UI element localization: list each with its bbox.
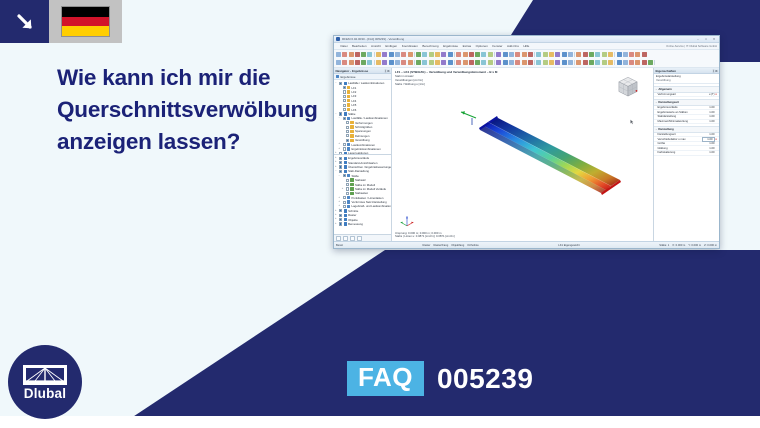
property-key: Verschiebefaktor u max — [656, 138, 702, 141]
toolbar-button[interactable] — [435, 60, 440, 65]
toolbar-button[interactable] — [536, 52, 541, 57]
properties-group-header[interactable]: −Allgemein — [654, 86, 719, 93]
toolbar-separator — [414, 52, 415, 57]
toolbar-button[interactable] — [562, 52, 567, 57]
toolbar-button[interactable] — [389, 60, 394, 65]
view-cube-icon[interactable] — [615, 74, 641, 100]
toolbar-button[interactable] — [389, 52, 394, 57]
tree-node-icon — [350, 187, 353, 190]
status-toggle-objektfang[interactable]: Objektfang — [451, 244, 464, 247]
toolbar-button[interactable] — [536, 60, 541, 65]
tree-node-label: Stabseiten — [355, 191, 368, 195]
tree-node-label: Stäbe — [348, 112, 355, 116]
toolbar-button[interactable] — [509, 60, 514, 65]
tree-checkbox[interactable] — [346, 187, 349, 190]
tree-node-icon — [350, 183, 353, 186]
tree-checkbox[interactable] — [346, 126, 349, 129]
property-key: Maximal-/Minimalwertung — [656, 120, 702, 123]
toolbar-button[interactable] — [408, 60, 413, 65]
group-label: Darstellung — [658, 127, 673, 131]
tree-node-label: Dehnungen — [355, 134, 369, 138]
tree-node-label: Übersichten / Ergebnisbewertungen — [348, 165, 391, 169]
properties-pin-icon[interactable]: ⌶ ✕ — [713, 69, 718, 73]
title-line-2: Querschnittsverwölbung — [57, 94, 327, 126]
toolbar-button[interactable] — [361, 52, 366, 57]
property-value[interactable]: 1.00 — [702, 137, 715, 142]
tree-twisty-icon[interactable]: − — [335, 81, 338, 85]
toolbar-separator — [454, 52, 455, 57]
toolbar-button[interactable] — [336, 52, 341, 57]
toolbar-button[interactable] — [401, 52, 406, 57]
toolbar-button[interactable] — [629, 60, 634, 65]
tree-node[interactable]: +Lagerkraft- und Lastkombinations-Polyli… — [335, 204, 391, 208]
property-key: Farbskalierung — [656, 151, 702, 154]
navigator-tab-label: Ergebnisse — [341, 75, 356, 79]
tree-checkbox[interactable] — [343, 201, 346, 204]
tree-twisty-icon[interactable]: − — [338, 116, 341, 120]
tree-twisty-icon[interactable]: + — [338, 147, 341, 151]
toolbar-button[interactable] — [496, 52, 501, 57]
toolbar-row-primary — [336, 51, 717, 58]
warping-result-beam — [470, 110, 640, 195]
toolbar-button[interactable] — [568, 60, 573, 65]
toolbar-button[interactable] — [441, 52, 446, 57]
window-title: RFEM 6.02.0030 - [FAQ 005239] - Verwölbu… — [342, 37, 404, 41]
status-left: Bereit — [336, 244, 343, 247]
menu-item-fenster[interactable]: Fenster — [492, 44, 502, 48]
tree-node-label: Verformtes Netz-Darstellung — [352, 200, 387, 204]
toolbar-separator — [454, 60, 455, 65]
tree-node-icon — [347, 95, 350, 98]
property-value[interactable]: 1.00 — [702, 120, 715, 123]
toolbar-button[interactable] — [635, 52, 640, 57]
tree-node-label: LF5 — [352, 103, 357, 107]
toolbar-button[interactable] — [448, 52, 453, 57]
toolbar-button[interactable] — [522, 52, 527, 57]
toolbar-button[interactable] — [583, 52, 588, 57]
tree-checkbox[interactable] — [339, 112, 342, 115]
flag-stripe-black — [62, 7, 109, 17]
tree-node-icon — [347, 117, 350, 120]
dlubal-logo[interactable]: Dlubal — [8, 345, 82, 419]
property-key: Ergebniswerte an Stäben — [656, 111, 702, 114]
property-value[interactable]: 1.00 — [702, 147, 715, 150]
property-value[interactable]: 1.00 — [702, 133, 715, 136]
application-body: Navigator - Ergebnisse ⌶ ✕ Ergebnisse −L… — [334, 68, 719, 241]
tree-twisty-icon[interactable]: + — [335, 222, 338, 226]
tree-node-label: Verformungen — [355, 121, 373, 125]
menu-item-datei[interactable]: Datei — [341, 44, 348, 48]
toolbar-separator — [534, 52, 535, 57]
german-flag-icon — [62, 7, 109, 36]
tree-node-icon — [350, 130, 353, 133]
toolbar-button[interactable] — [543, 60, 548, 65]
tree-checkbox[interactable] — [346, 192, 349, 195]
toolbar-button[interactable] — [623, 60, 628, 65]
faq-card: Wie kann ich mir die Querschnittsverwölb… — [0, 0, 760, 428]
tree-node-label: Bemessung — [348, 222, 363, 226]
toolbar-button[interactable] — [608, 60, 613, 65]
toolbar-separator — [414, 60, 415, 65]
tree-checkbox[interactable] — [343, 90, 346, 93]
toolbar-button[interactable] — [503, 60, 508, 65]
tree-node-icon — [344, 165, 347, 168]
toolbar-button[interactable] — [456, 60, 461, 65]
tree-checkbox[interactable] — [346, 139, 349, 142]
tree-checkbox[interactable] — [343, 174, 346, 177]
tree-node-label: Punktlasten / Linienlasten — [352, 196, 384, 200]
tree-node-label: Stabsatz — [355, 178, 366, 182]
toolbar-button[interactable] — [349, 52, 354, 57]
nav-button-1[interactable] — [336, 236, 341, 241]
toolbar-button[interactable] — [602, 52, 607, 57]
toolbar-button[interactable] — [448, 60, 453, 65]
tree-checkbox[interactable] — [343, 143, 346, 146]
toolbar-button[interactable] — [336, 60, 341, 65]
toolbar-button[interactable] — [589, 52, 594, 57]
navigator-title: Navigator - Ergebnisse — [336, 69, 369, 73]
tree-node-icon — [347, 200, 350, 203]
rfem-application-window: RFEM 6.02.0030 - [FAQ 005239] - Verwölbu… — [333, 35, 720, 249]
properties-group-header[interactable]: −Darstellung — [654, 126, 719, 133]
menu-item-einfuegen[interactable]: Einfügen — [385, 44, 397, 48]
menu-item-addons[interactable]: Add-Ons — [507, 44, 519, 48]
tree-node-icon — [344, 161, 347, 164]
group-twisty-icon[interactable]: − — [656, 100, 658, 104]
toolbar-button[interactable] — [469, 52, 474, 57]
menu-item-ansicht[interactable]: Ansicht — [371, 44, 381, 48]
toolbar-separator — [494, 52, 495, 57]
tree-node-label: Lagerkraft- und Lastkombinations-Polylin… — [352, 204, 391, 208]
tree-checkbox[interactable] — [343, 99, 346, 102]
tree-node-icon — [347, 205, 350, 208]
tree-twisty-icon[interactable]: + — [342, 187, 345, 191]
toolbar-button[interactable] — [408, 52, 413, 57]
expand-badge[interactable] — [0, 0, 49, 43]
navigator-tree-display[interactable]: +Ergebnisverläufe+Standard-Ansichtsarten… — [334, 154, 391, 234]
toolbar-button[interactable] — [376, 52, 381, 57]
properties-object-sub: Verwölbung — [656, 79, 717, 83]
toolbar-button[interactable] — [583, 60, 588, 65]
toolbar-button[interactable] — [496, 60, 501, 65]
tree-checkbox[interactable] — [339, 214, 342, 217]
tree-checkbox[interactable] — [339, 82, 342, 85]
axis-triad-icon — [399, 213, 415, 227]
tree-checkbox[interactable] — [339, 209, 342, 212]
tree-checkbox[interactable] — [346, 121, 349, 124]
toolbar-button[interactable] — [543, 52, 548, 57]
tree-node-label: Raster — [348, 213, 356, 217]
status-toggle-ortholinie[interactable]: Ortholinie — [467, 244, 479, 247]
tree-node-label: LF4 — [352, 99, 357, 103]
flag-stripe-red — [62, 17, 109, 27]
tree-node-label: Spannungen — [355, 129, 371, 133]
toolbar-button[interactable] — [515, 60, 520, 65]
property-row[interactable]: Maximal-/Minimalwertung1.00 — [654, 120, 719, 125]
tree-node-icon — [344, 209, 347, 212]
toolbar-button[interactable] — [488, 60, 493, 65]
local-axis-arrow-icon — [458, 108, 478, 126]
nav-button-3[interactable] — [350, 236, 355, 241]
mouse-cursor-icon — [630, 119, 634, 125]
toolbar-button[interactable] — [555, 60, 560, 65]
status-toggle-rasterfang[interactable]: Raster/Fang — [433, 244, 448, 247]
toolbar-button[interactable] — [435, 52, 440, 57]
tree-checkbox[interactable] — [346, 134, 349, 137]
tree-node-icon — [344, 222, 347, 225]
toolbar-button[interactable] — [576, 52, 581, 57]
toolbar-button[interactable] — [617, 60, 622, 65]
toolbar-button[interactable] — [635, 60, 640, 65]
toolbar-button[interactable] — [629, 52, 634, 57]
property-value[interactable]: 1.00 — [702, 106, 715, 109]
tree-checkbox[interactable] — [343, 95, 346, 98]
menu-item-extras[interactable]: Extras — [463, 44, 472, 48]
toolbar-button[interactable] — [642, 60, 647, 65]
property-row[interactable]: Verformungsartu (T)● — [654, 93, 719, 98]
page-title: Wie kann ich mir die Querschnittsverwölb… — [57, 62, 327, 158]
tree-node-icon — [347, 174, 350, 177]
tree-node-label: LF1 — [352, 86, 357, 90]
toolbar-button[interactable] — [555, 52, 560, 57]
toolbar-button[interactable] — [367, 52, 372, 57]
toolbar-button[interactable] — [528, 60, 533, 65]
toolbar-button[interactable] — [623, 52, 628, 57]
toolbar-separator — [614, 60, 615, 65]
toolbar-button[interactable] — [382, 52, 387, 57]
navigator-footer — [334, 234, 391, 241]
tree-node-label: Schnitte — [348, 209, 358, 213]
properties-group-header[interactable]: −Darstellungsart — [654, 99, 719, 106]
flag-stripe-gold — [62, 26, 109, 36]
tree-node-icon — [350, 192, 353, 195]
toolbar-button[interactable] — [401, 60, 406, 65]
nav-button-2[interactable] — [343, 236, 348, 241]
tree-node-label: Schnittgrößen — [355, 125, 372, 129]
toolbar-button[interactable] — [416, 52, 421, 57]
close-button[interactable]: ✕ — [711, 37, 717, 42]
toolbar-button[interactable] — [422, 52, 427, 57]
group-twisty-icon[interactable]: − — [656, 127, 658, 131]
bridge-truss-icon — [23, 364, 67, 386]
toolbar-separator — [374, 52, 375, 57]
tree-checkbox[interactable] — [346, 179, 349, 182]
toolbar-separator — [654, 60, 655, 65]
tree-node[interactable]: −Lastfälle / Lastkombinationen — [335, 81, 391, 85]
toolbar-button[interactable] — [481, 60, 486, 65]
toolbar-button[interactable] — [361, 60, 366, 65]
toolbar-button[interactable] — [515, 52, 520, 57]
tree-checkbox[interactable] — [343, 117, 346, 120]
toolbar-button[interactable] — [608, 52, 613, 57]
toolbar-button[interactable] — [642, 52, 647, 57]
app-icon — [336, 37, 340, 41]
tree-node-icon — [344, 170, 347, 173]
title-line-3: anzeigen lassen? — [57, 126, 327, 158]
property-value[interactable]: 1.00 — [702, 111, 715, 114]
tree-checkbox[interactable] — [346, 183, 349, 186]
toolbar-button[interactable] — [576, 60, 581, 65]
toolbar-button[interactable] — [568, 52, 573, 57]
toolbars — [334, 50, 719, 68]
toolbar-separator — [494, 60, 495, 65]
toolbar-button[interactable] — [463, 60, 468, 65]
title-line-1: Wie kann ich mir die — [57, 62, 327, 94]
property-value[interactable]: 1.00 — [702, 151, 715, 154]
property-value[interactable]: 1.00 — [702, 115, 715, 118]
toolbar-button[interactable] — [549, 60, 554, 65]
toolbar-button[interactable] — [488, 52, 493, 57]
faq-footer: FAQ 005239 — [347, 361, 533, 396]
toolbar-button[interactable] — [469, 60, 474, 65]
menu-item-ergebnisse[interactable]: Ergebnisse — [443, 44, 458, 48]
tree-twisty-icon[interactable]: + — [338, 204, 341, 208]
model-viewport[interactable]: LF1 – LK1 (STB/GZG) – Verwölbung und Ver… — [392, 68, 653, 241]
tree-checkbox[interactable] — [339, 218, 342, 221]
toolbar-button[interactable] — [475, 52, 480, 57]
toolbar-button[interactable] — [617, 52, 622, 57]
toolbar-separator — [614, 52, 615, 57]
toolbar-button[interactable] — [355, 60, 360, 65]
nav-button-4[interactable] — [357, 236, 362, 241]
tree-checkbox[interactable] — [339, 170, 342, 173]
toolbar-button[interactable] — [456, 52, 461, 57]
tree-checkbox[interactable] — [343, 205, 346, 208]
toolbar-button[interactable] — [549, 52, 554, 57]
toolbar-button[interactable] — [602, 60, 607, 65]
tree-node-label: LF2 — [352, 90, 357, 94]
tree-node-icon — [350, 125, 353, 128]
arrow-down-right-icon — [13, 10, 37, 34]
toolbar-button[interactable] — [342, 52, 347, 57]
toolbar-button[interactable] — [463, 52, 468, 57]
maximize-button[interactable]: □ — [703, 37, 709, 42]
property-value[interactable]: u (T) — [702, 93, 715, 96]
toolbar-button[interactable] — [475, 60, 480, 65]
tree-node-icon — [344, 218, 347, 221]
menu-item-bearbeiten[interactable]: Bearbeiten — [352, 44, 367, 48]
toolbar-button[interactable] — [382, 60, 387, 65]
status-bar: Bereit Raster Raster/Fang Objektfang Ort… — [334, 241, 719, 248]
group-label: Allgemein — [658, 87, 671, 91]
properties-panel: Eigenschaften ⌶ ✕ Ergebnisdarstellung Ve… — [653, 68, 719, 241]
toolbar-button[interactable] — [416, 60, 421, 65]
tree-node-icon — [344, 112, 347, 115]
toolbar-button[interactable] — [355, 52, 360, 57]
tree-node-label: Objekte — [348, 218, 358, 222]
menu-item-optionen[interactable]: Optionen — [476, 44, 488, 48]
toolbar-button[interactable] — [422, 60, 427, 65]
toolbar-button[interactable] — [528, 52, 533, 57]
toolbar-separator — [374, 60, 375, 65]
tree-node-icon — [347, 143, 350, 146]
property-value[interactable]: 1.00 — [702, 142, 715, 145]
faq-badge: FAQ — [347, 361, 424, 396]
faq-number: 005239 — [437, 365, 533, 393]
properties-title: Eigenschaften — [656, 69, 677, 73]
navigator-tree-results[interactable]: −Lastfälle / LastkombinationenLF1LF2LF3L… — [334, 80, 391, 154]
toolbar-button[interactable] — [595, 60, 600, 65]
tree-checkbox[interactable] — [343, 104, 346, 107]
properties-object: Ergebnisdarstellung Verwölbung — [654, 74, 719, 84]
tree-checkbox[interactable] — [343, 147, 346, 150]
toolbar-button[interactable] — [481, 52, 486, 57]
tree-node-icon — [347, 196, 350, 199]
tree-checkbox[interactable] — [339, 157, 342, 160]
toolbar-button[interactable] — [349, 60, 354, 65]
property-row[interactable]: Farbskalierung1.00 — [654, 151, 719, 156]
tree-node-label: Stäbe — [352, 174, 359, 178]
toolbar-button[interactable] — [429, 60, 434, 65]
tree-node[interactable]: +Bemessung — [335, 222, 391, 226]
group-twisty-icon[interactable]: − — [656, 87, 658, 91]
tree-checkbox[interactable] — [339, 165, 342, 168]
tree-node-label: Stäbe im Modell Verläufe — [355, 187, 386, 191]
status-coord-x: X: 0.000 m — [672, 244, 685, 247]
toolbar-button[interactable] — [395, 60, 400, 65]
toolbar-button[interactable] — [589, 60, 594, 65]
toolbar-button[interactable] — [595, 52, 600, 57]
toolbar-separator — [534, 60, 535, 65]
toolbar-row-secondary — [336, 59, 717, 66]
property-key: Ergebnisverläufe — [656, 106, 702, 109]
tree-checkbox[interactable] — [343, 196, 346, 199]
toolbar-button[interactable] — [509, 52, 514, 57]
navigator-pin-icon[interactable]: ⌶ ✕ — [385, 69, 390, 73]
viewport-values: Stabs | Linien u: 0.0871 [cm²/m]; 0.0871… — [395, 235, 455, 239]
menu-item-hilfe[interactable]: Hilfe — [523, 44, 529, 48]
toolbar-button[interactable] — [503, 52, 508, 57]
tree-node-icon — [347, 90, 350, 93]
tree-node-icon — [347, 99, 350, 102]
logo-text: Dlubal — [24, 387, 66, 401]
toolbar-button[interactable] — [376, 60, 381, 65]
menu-item-berechnung[interactable]: Berechnung — [422, 44, 438, 48]
menu-account-info[interactable]: Online-Service | IT: Dlubal Software Gmb… — [666, 45, 717, 48]
toolbar-button[interactable] — [562, 60, 567, 65]
language-flag-button[interactable] — [49, 0, 122, 43]
tree-node-label: Ergebniskombinationen — [352, 147, 381, 151]
tree-node-icon — [350, 121, 353, 124]
group-label: Darstellungsart — [658, 100, 679, 104]
tree-node-icon — [347, 103, 350, 106]
toolbar-separator — [574, 60, 575, 65]
tree-checkbox[interactable] — [343, 108, 346, 111]
toolbar-button[interactable] — [441, 60, 446, 65]
toolbar-button[interactable] — [648, 60, 653, 65]
status-toggle-raster[interactable]: Raster — [423, 244, 431, 247]
menu-item-koordinaten[interactable]: Koordinaten — [402, 44, 418, 48]
toolbar-button[interactable] — [367, 60, 372, 65]
tree-checkbox[interactable] — [339, 161, 342, 164]
tree-node-label: Lastfälle / Lastkombinationen — [348, 81, 384, 85]
toolbar-button[interactable] — [342, 60, 347, 65]
viewport-footer: Ursprung: 0.000 m; 0.000 m; 0.000 m Stab… — [395, 232, 455, 239]
background-white-strip — [0, 416, 760, 428]
toolbar-button[interactable] — [522, 60, 527, 65]
tree-checkbox[interactable] — [339, 222, 342, 225]
status-coord-y: Y: 0.000 m — [688, 244, 701, 247]
tree-twisty-icon[interactable]: − — [338, 174, 341, 178]
minimize-button[interactable]: – — [695, 37, 701, 42]
status-members: Stäbe: 1 — [659, 244, 669, 247]
status-center: LK1 Eigengewicht — [558, 244, 580, 247]
tree-checkbox[interactable] — [346, 130, 349, 133]
toolbar-button[interactable] — [395, 52, 400, 57]
tree-checkbox[interactable] — [343, 86, 346, 89]
property-key: Darstellungsart — [656, 133, 702, 136]
toolbar-button[interactable] — [429, 52, 434, 57]
